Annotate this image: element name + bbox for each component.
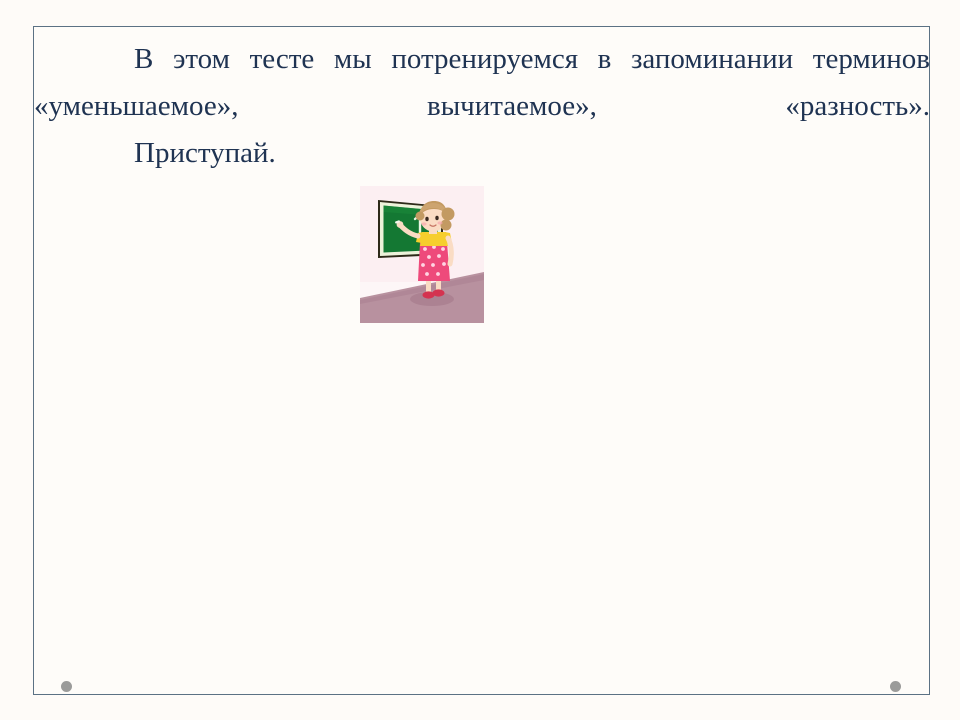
decor-dot-left: [61, 681, 72, 692]
paragraph-intro: В этом тесте мы потренируемся в запомина…: [34, 36, 930, 130]
slide-canvas: В этом тесте мы потренируемся в запомина…: [0, 0, 960, 720]
decor-dot-right: [890, 681, 901, 692]
slide-body-text: В этом тесте мы потренируемся в запомина…: [34, 36, 930, 177]
girl-at-chalkboard-image: [360, 186, 484, 323]
girl-at-chalkboard-illustration: [360, 186, 484, 323]
paragraph-start: Приступай.: [34, 130, 930, 177]
